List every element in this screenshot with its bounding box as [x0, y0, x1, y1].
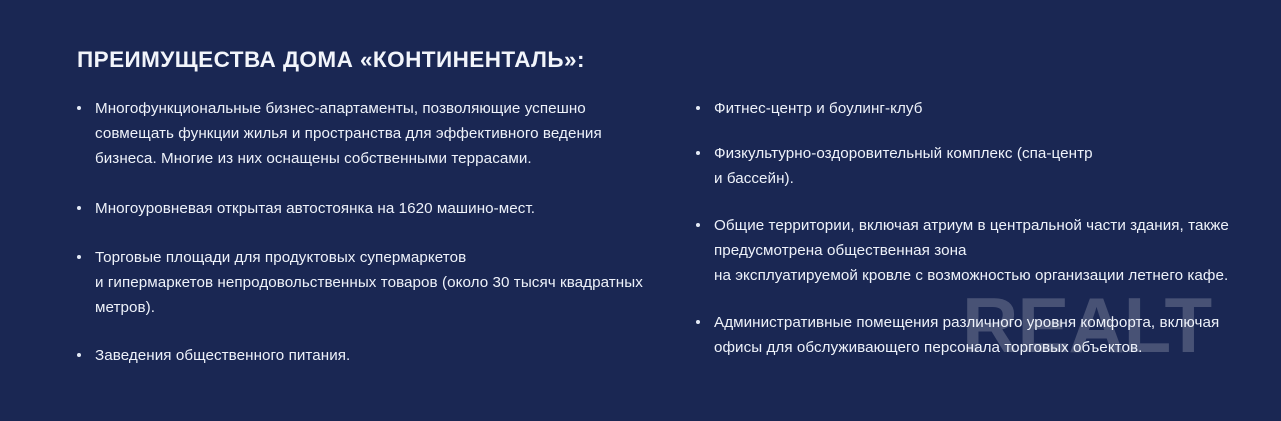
list-item: Фитнес-центр и боулинг-клуб: [696, 96, 1241, 121]
list-item: Заведения общественного питания.: [77, 343, 667, 368]
list-item: Общие территории, включая атриум в центр…: [696, 213, 1241, 289]
list-item-text: Общие территории, включая атриум в центр…: [714, 213, 1241, 289]
list-item-text: Торговые площади для продуктовых суперма…: [95, 245, 667, 321]
bullet-dot-icon: [696, 151, 700, 155]
advantages-list-left: Многофункциональные бизнес-апартаменты, …: [77, 96, 667, 369]
list-item-text: Заведения общественного питания.: [95, 343, 667, 368]
list-item: Административные помещения различного ур…: [696, 310, 1241, 360]
page-title: ПРЕИМУЩЕСТВА ДОМА «КОНТИНЕНТАЛЬ»:: [77, 47, 585, 73]
bullet-dot-icon: [696, 106, 700, 110]
advantages-slide: REALT ПРЕИМУЩЕСТВА ДОМА «КОНТИНЕНТАЛЬ»: …: [0, 0, 1281, 421]
list-item-text: Фитнес-центр и боулинг-клуб: [714, 96, 1241, 121]
bullet-dot-icon: [77, 206, 81, 210]
bullet-dot-icon: [77, 255, 81, 259]
bullet-dot-icon: [696, 223, 700, 227]
bullet-dot-icon: [696, 320, 700, 324]
bullet-dot-icon: [77, 106, 81, 110]
list-item-text: Многофункциональные бизнес-апартаменты, …: [95, 96, 667, 172]
advantages-column-left: Многофункциональные бизнес-апартаменты, …: [77, 96, 667, 390]
bullet-dot-icon: [77, 353, 81, 357]
list-item-text: Административные помещения различного ур…: [714, 310, 1241, 360]
list-item-text: Многоуровневая открытая автостоянка на 1…: [95, 196, 667, 221]
advantages-column-right: Фитнес-центр и боулинг-клуб Физкультурно…: [696, 96, 1241, 361]
list-item: Торговые площади для продуктовых суперма…: [77, 245, 667, 321]
list-item-text: Физкультурно-оздоровительный комплекс (с…: [714, 141, 1241, 191]
list-item: Многофункциональные бизнес-апартаменты, …: [77, 96, 667, 172]
list-item: Физкультурно-оздоровительный комплекс (с…: [696, 141, 1241, 191]
list-item: Многоуровневая открытая автостоянка на 1…: [77, 196, 667, 221]
advantages-list-right: Фитнес-центр и боулинг-клуб Физкультурно…: [696, 96, 1241, 361]
